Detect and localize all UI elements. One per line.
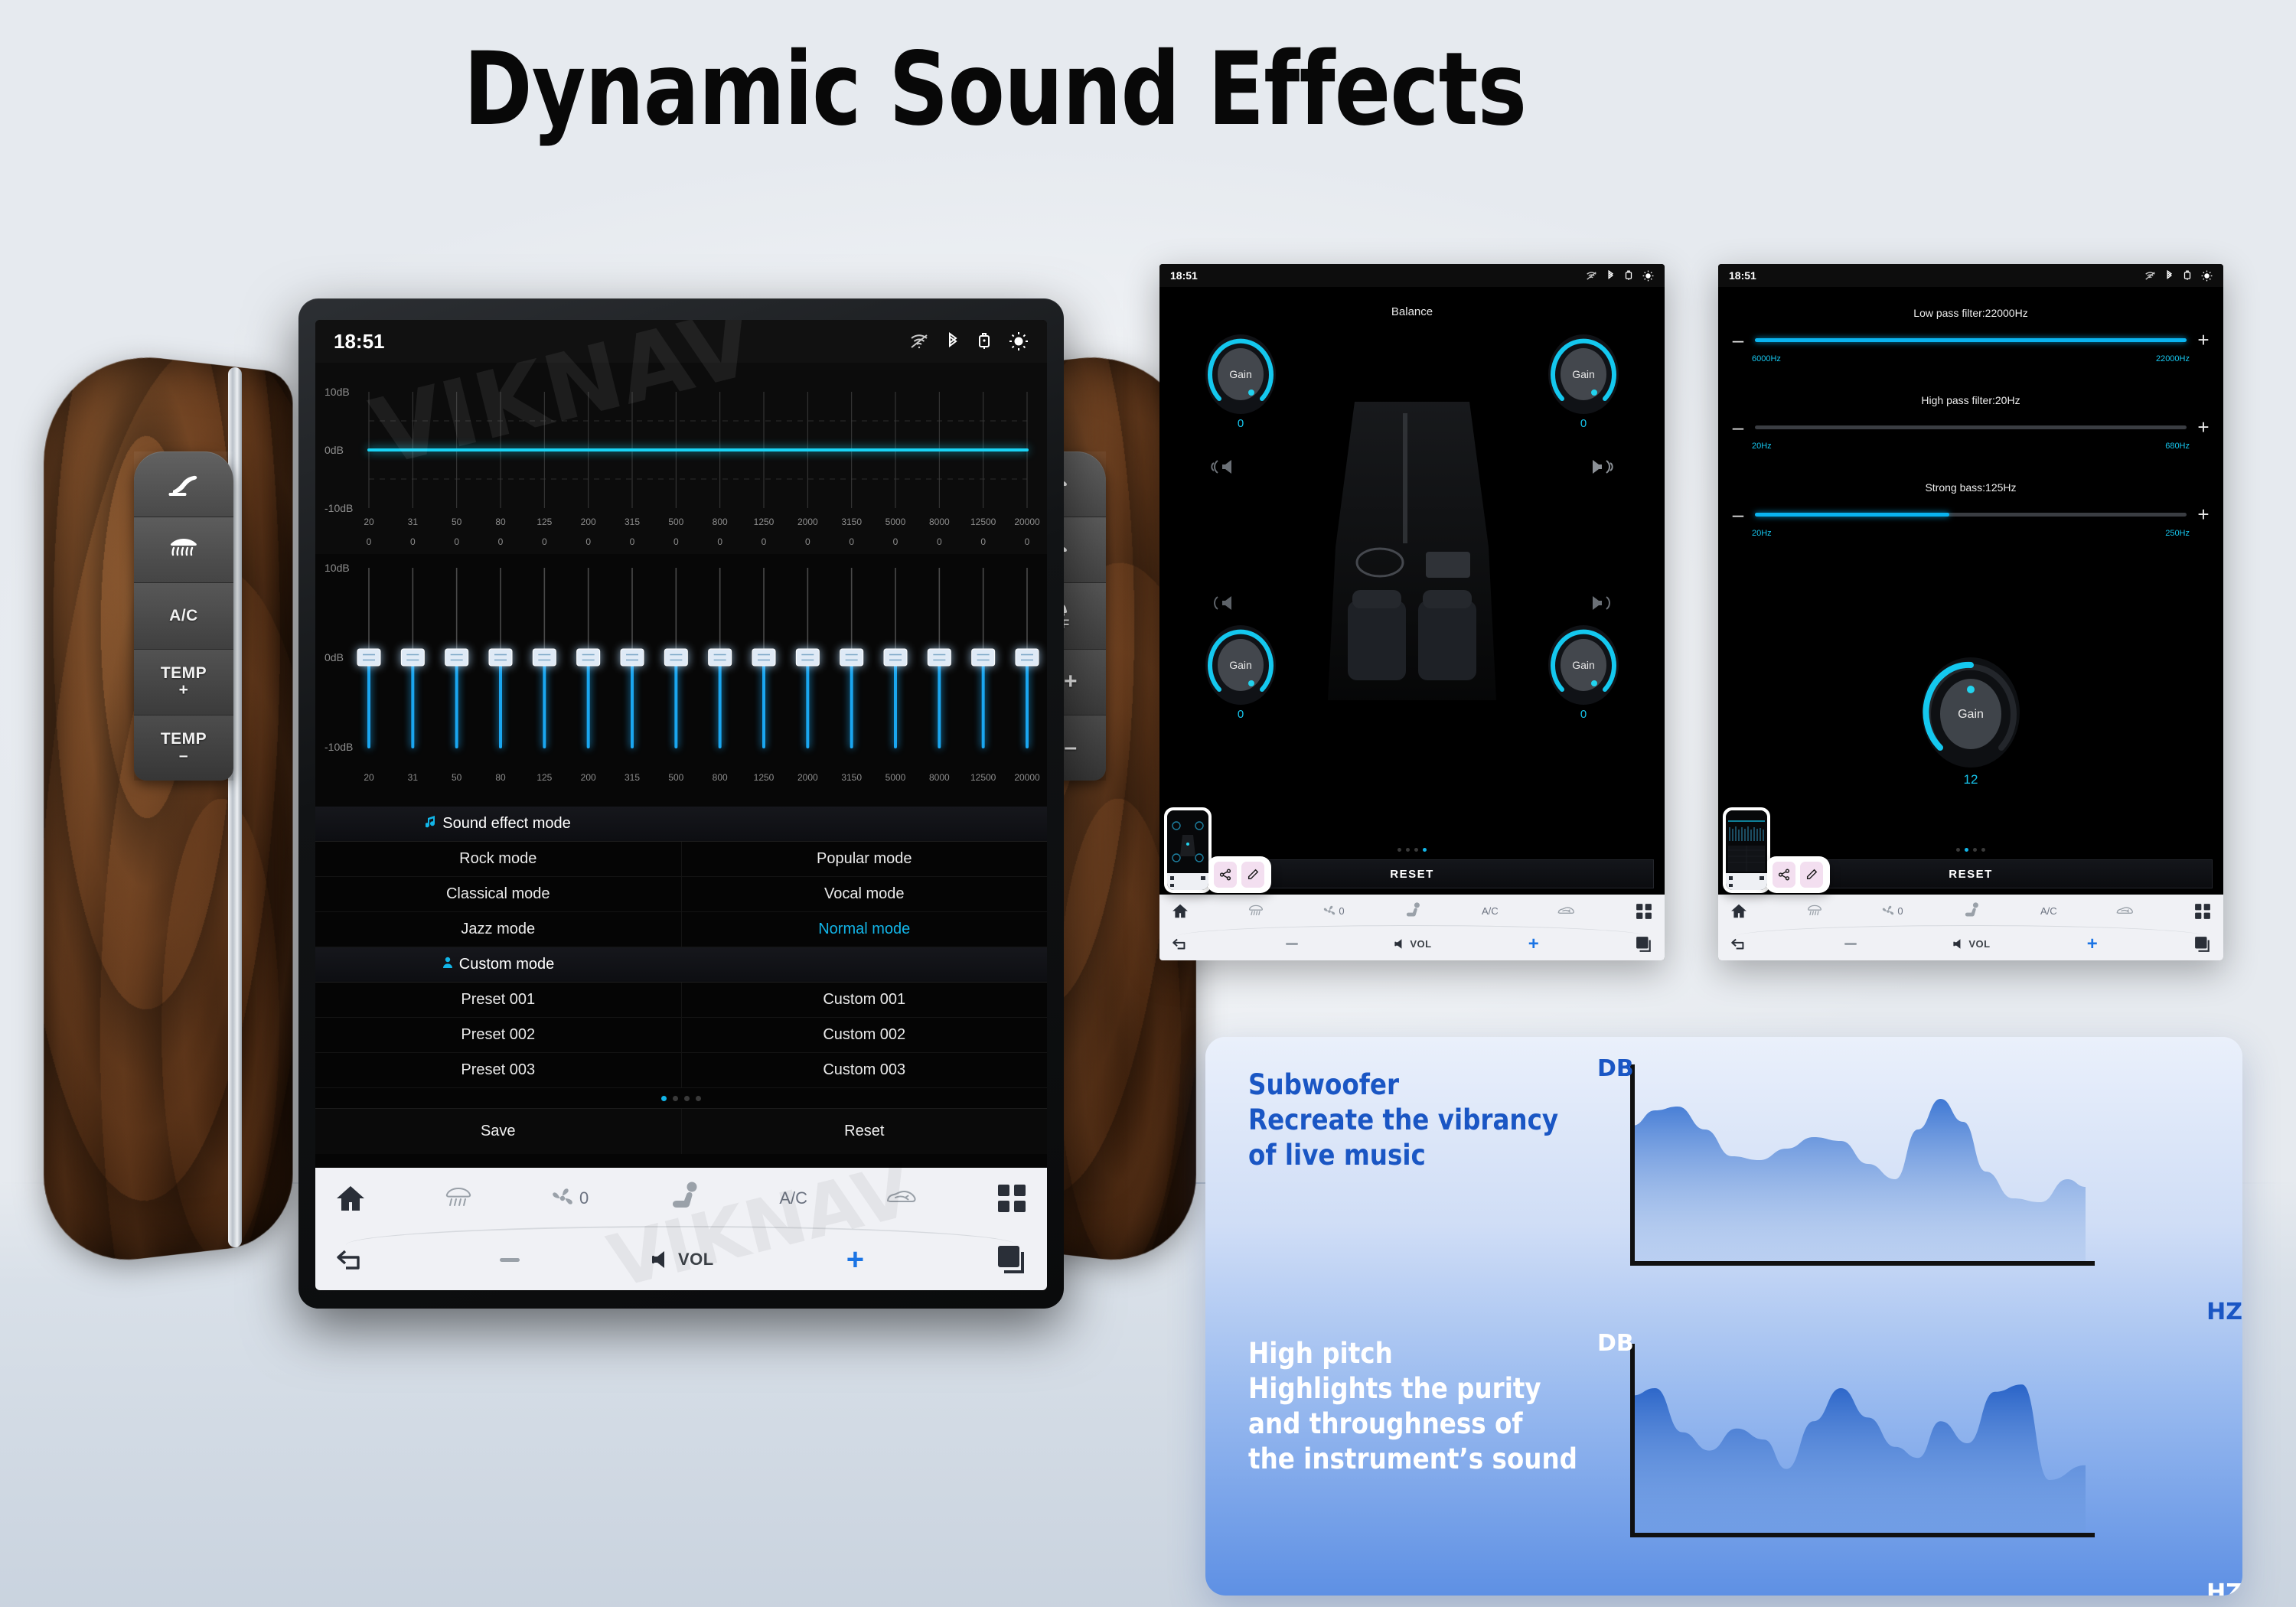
table-row[interactable]: Classical mode Vocal mode <box>315 877 1047 912</box>
low-pass-filter-title: Low pass filter:22000Hz <box>1718 307 2223 319</box>
recents-icon[interactable] <box>996 1244 1027 1275</box>
screenshot-thumbnail[interactable] <box>1164 807 1212 893</box>
nav-row-top: 0 A/C <box>1718 895 2223 927</box>
info-card: Subwoofer Recreate the vibrancy of live … <box>1205 1037 2242 1596</box>
filter-screen: 18:51 Low pass filter:22000Hz – + 6000Hz… <box>1718 264 2223 960</box>
screenshot-thumbnail-image <box>1167 810 1208 890</box>
screenshot-thumbnail[interactable] <box>1723 807 1770 893</box>
svg-text:500: 500 <box>668 517 683 527</box>
fan-speed-value: 0 <box>579 1188 589 1208</box>
mode-popular[interactable]: Popular mode <box>682 842 1048 876</box>
home-icon[interactable] <box>1172 903 1189 919</box>
volume-label: VOL <box>1968 938 1990 950</box>
gain-knob-front-left[interactable]: Gain 0 <box>1199 333 1282 430</box>
gain-knob-front-right[interactable]: Gain 0 <box>1542 333 1625 430</box>
volume-icon <box>1953 937 1968 950</box>
table-row[interactable]: Preset 003 Custom 003 <box>315 1053 1047 1088</box>
highpitch-chart: DB HZ <box>1619 1316 2242 1596</box>
slider-fill <box>1755 338 2187 342</box>
share-icon[interactable] <box>1773 862 1795 888</box>
speaker-rear-right-icon <box>1591 593 1617 617</box>
speaker-left-icon <box>1207 457 1233 481</box>
fan-speed-value: 0 <box>1339 905 1344 917</box>
highpitch-line-2: Highlights the purity <box>1248 1371 1574 1407</box>
svg-text:2000: 2000 <box>797 772 818 783</box>
high-pass-decrease-button[interactable]: – <box>1730 417 1746 437</box>
sound-effect-mode-header: Sound effect mode <box>315 807 1047 842</box>
home-icon[interactable] <box>1730 903 1747 919</box>
svg-text:20: 20 <box>364 772 374 783</box>
usb-icon <box>977 332 992 350</box>
ac-label[interactable]: A/C <box>2040 905 2057 917</box>
car-dashboard-unit: A/C TEMP + TEMP – OFF <box>46 298 1194 1324</box>
music-note-icon <box>426 815 436 833</box>
temp-up-button[interactable]: TEMP + <box>134 650 233 715</box>
subwoofer-waveform-svg <box>1619 1060 2108 1289</box>
seat-icon[interactable] <box>666 1182 703 1215</box>
status-bar-icons <box>909 331 1029 351</box>
page-dot[interactable] <box>1423 848 1427 852</box>
strong-bass-increase-button[interactable]: + <box>2196 504 2211 524</box>
brightness-icon <box>2201 270 2213 282</box>
apps-grid-icon[interactable] <box>1636 903 1652 920</box>
bottom-nav-bar: 0 A/C VOL + <box>1718 895 2223 960</box>
low-pass-increase-button[interactable]: + <box>2196 330 2211 350</box>
high-pass-increase-button[interactable]: + <box>2196 417 2211 437</box>
page-dot[interactable] <box>1956 848 1960 852</box>
home-icon[interactable] <box>335 1184 366 1213</box>
svg-text:0: 0 <box>762 536 767 547</box>
strong-bass-slider[interactable] <box>1755 513 2187 517</box>
custom-003[interactable]: Custom 003 <box>682 1053 1048 1087</box>
table-row[interactable]: Jazz mode Normal mode <box>315 912 1047 947</box>
rear-defrost-button[interactable] <box>134 517 233 583</box>
main-screen: 18:51 10dB0d <box>315 320 1047 1290</box>
subwoofer-chart: DB HZ <box>1619 1037 2242 1316</box>
svg-text:0: 0 <box>673 536 679 547</box>
volume-up-button[interactable]: + <box>846 1244 864 1275</box>
strong-bass-range-labels: 20Hz 250Hz <box>1718 529 2223 538</box>
balance-title: Balance <box>1159 305 1665 318</box>
defrost-icon[interactable] <box>443 1185 474 1211</box>
svg-text:31: 31 <box>408 772 419 783</box>
svg-text:0: 0 <box>585 536 591 547</box>
svg-text:-10dB: -10dB <box>325 741 353 753</box>
page-dot[interactable] <box>1414 848 1418 852</box>
strong-bass-title: Strong bass:125Hz <box>1718 481 2223 494</box>
high-pass-filter-title: High pass filter:20Hz <box>1718 394 2223 406</box>
volume-down-button[interactable] <box>1844 943 1857 945</box>
info-block-subwoofer: Subwoofer Recreate the vibrancy of live … <box>1205 1037 2242 1316</box>
recirculate-icon[interactable] <box>1557 905 1577 918</box>
low-pass-filter-group: Low pass filter:22000Hz – + 6000Hz 22000… <box>1718 307 2223 363</box>
brightness-icon <box>1642 270 1654 282</box>
eq-slider-bank[interactable]: 10dB0dB-10dB2031508012520031550080012502… <box>315 554 1047 807</box>
thumbnail-content <box>1167 810 1208 890</box>
status-bar-clock: 18:51 <box>1729 269 1756 282</box>
recirculate-icon[interactable] <box>885 1188 920 1209</box>
custom-mode-header-right <box>681 947 1047 982</box>
high-pass-filter-group: High pass filter:20Hz – + 20Hz 680Hz <box>1718 394 2223 451</box>
eq-curve-svg: 10dB0dB-10dB2003105008001250200031505000… <box>315 370 1047 554</box>
svg-text:125: 125 <box>536 772 552 783</box>
fan-down-sign: – <box>1064 735 1077 761</box>
knob-value: 0 <box>1199 708 1282 721</box>
sound-effect-mode-title: Sound effect mode <box>315 807 681 841</box>
highpitch-x-axis-label: HZ <box>2206 1579 2242 1596</box>
bottom-nav-bar: 0 A/C <box>315 1168 1047 1290</box>
svg-text:0: 0 <box>498 536 504 547</box>
svg-text:20000: 20000 <box>1014 772 1040 783</box>
page-indicator-dots <box>315 1088 1047 1108</box>
svg-text:800: 800 <box>713 517 728 527</box>
seat-icon[interactable] <box>1962 902 1981 921</box>
table-row[interactable]: Preset 001 Custom 001 <box>315 983 1047 1018</box>
gain-knob-rear-left[interactable]: Gain 0 <box>1199 624 1282 721</box>
preset-002[interactable]: Preset 002 <box>315 1018 682 1052</box>
svg-text:0: 0 <box>717 536 722 547</box>
svg-text:10dB: 10dB <box>325 386 350 398</box>
table-row[interactable]: Rock mode Popular mode <box>315 842 1047 877</box>
page-dot[interactable] <box>673 1096 678 1101</box>
highpitch-waveform-svg <box>1619 1339 2108 1561</box>
svg-text:1250: 1250 <box>754 772 775 783</box>
sound-effect-mode-header-right <box>681 807 1047 841</box>
custom-001[interactable]: Custom 001 <box>682 983 1048 1017</box>
svg-text:0dB: 0dB <box>325 651 344 663</box>
volume-down-button[interactable] <box>500 1258 520 1262</box>
eq-response-curve: 10dB0dB-10dB2003105008001250200031505000… <box>315 363 1047 554</box>
mode-jazz[interactable]: Jazz mode <box>315 912 682 947</box>
volume-icon <box>1394 937 1410 950</box>
fan-icon[interactable] <box>1881 905 1895 918</box>
strong-bass-row: – + <box>1718 504 2223 524</box>
svg-text:315: 315 <box>625 772 640 783</box>
svg-text:800: 800 <box>713 772 728 783</box>
brightness-icon <box>1009 331 1029 351</box>
info-block-highpitch: High pitch Highlights the purity and thr… <box>1205 1316 2242 1596</box>
svg-text:5000: 5000 <box>885 517 906 527</box>
page-dot[interactable] <box>1965 848 1968 852</box>
svg-text:0: 0 <box>410 536 416 547</box>
sound-effect-footer: Save Reset <box>315 1108 1047 1154</box>
status-bar: 18:51 <box>1718 264 2223 287</box>
filter-body: Low pass filter:22000Hz – + 6000Hz 22000… <box>1718 287 2223 895</box>
svg-text:0: 0 <box>893 536 899 547</box>
svg-text:20000: 20000 <box>1014 517 1040 527</box>
temp-down-sign: – <box>179 748 188 764</box>
custom-mode-header: Custom mode <box>315 947 1047 983</box>
knob-value: 12 <box>1919 772 2023 787</box>
custom-mode-title: Custom mode <box>315 947 681 982</box>
subwoofer-line-2: Recreate the vibrancy <box>1248 1103 1574 1138</box>
svg-text:0: 0 <box>1025 536 1030 547</box>
high-pass-min: 20Hz <box>1752 442 1772 451</box>
high-pass-max: 680Hz <box>2165 442 2190 451</box>
edit-pencil-icon[interactable] <box>1800 862 1823 888</box>
knob-value: 0 <box>1542 417 1625 430</box>
thumbnail-content <box>1726 810 1767 890</box>
balance-screen: 18:51 Balance <box>1159 264 1665 960</box>
page-dot[interactable] <box>684 1096 690 1101</box>
highpitch-line-1: High pitch <box>1248 1336 1574 1371</box>
ac-label[interactable]: A/C <box>1482 905 1499 917</box>
wifi-off-icon <box>909 333 929 350</box>
svg-text:0: 0 <box>980 536 986 547</box>
svg-text:0: 0 <box>849 536 854 547</box>
preset-001[interactable]: Preset 001 <box>315 983 682 1017</box>
mode-vocal[interactable]: Vocal mode <box>682 877 1048 911</box>
bass-gain-knob[interactable]: Gain 12 <box>1919 654 2023 787</box>
svg-text:50: 50 <box>452 517 462 527</box>
highpitch-line-3: and throughness of <box>1248 1407 1574 1442</box>
fan-speed-value: 0 <box>1897 905 1903 917</box>
back-icon[interactable] <box>335 1247 367 1273</box>
svg-text:-10dB: -10dB <box>325 502 353 514</box>
fan-icon[interactable] <box>1322 905 1336 918</box>
svg-text:125: 125 <box>536 517 552 527</box>
svg-text:10dB: 10dB <box>325 562 350 574</box>
high-pass-filter-row: – + <box>1718 417 2223 437</box>
knob-label: Gain <box>1547 368 1620 380</box>
sound-effect-mode-panel: Sound effect mode Rock mode Popular mode… <box>315 807 1047 1168</box>
sound-effect-mode-title-text: Sound effect mode <box>442 815 571 833</box>
svg-text:200: 200 <box>581 772 596 783</box>
svg-text:2000: 2000 <box>797 517 818 527</box>
fan-icon[interactable] <box>550 1186 575 1211</box>
page-dot[interactable] <box>1406 848 1410 852</box>
svg-text:0: 0 <box>542 536 547 547</box>
svg-text:1250: 1250 <box>754 517 775 527</box>
temp-up-sign: + <box>179 682 189 699</box>
strong-bass-min: 20Hz <box>1752 529 1772 538</box>
preset-003[interactable]: Preset 003 <box>315 1053 682 1087</box>
car-interior-graphic <box>1159 371 1665 800</box>
bluetooth-icon <box>1606 270 1615 281</box>
temp-down-label: TEMP <box>161 731 207 748</box>
person-icon <box>442 956 453 973</box>
gain-knob-rear-right[interactable]: Gain 0 <box>1542 624 1625 721</box>
svg-text:8000: 8000 <box>929 772 950 783</box>
mode-rock[interactable]: Rock mode <box>315 842 682 876</box>
mode-classical[interactable]: Classical mode <box>315 877 682 911</box>
svg-text:315: 315 <box>625 517 640 527</box>
share-icon[interactable] <box>1214 862 1237 888</box>
temp-up-label: TEMP <box>161 665 207 682</box>
status-bar-icons <box>2144 270 2213 282</box>
temp-down-button[interactable]: TEMP – <box>134 715 233 781</box>
strong-bass-max: 250Hz <box>2165 529 2190 538</box>
knob-label: Gain <box>1204 368 1277 380</box>
bluetooth-icon <box>2165 270 2174 281</box>
volume-label: VOL <box>678 1250 714 1270</box>
low-pass-filter-slider[interactable] <box>1755 338 2187 342</box>
low-pass-decrease-button[interactable]: – <box>1730 330 1746 350</box>
nav-row-top: 0 A/C <box>315 1168 1047 1229</box>
status-bar-icons <box>1586 270 1654 282</box>
knob-label: Gain <box>1204 659 1277 671</box>
seat-icon[interactable] <box>1403 902 1423 921</box>
svg-text:0dB: 0dB <box>325 444 344 456</box>
svg-text:8000: 8000 <box>929 517 950 527</box>
mode-normal[interactable]: Normal mode <box>682 912 1048 947</box>
table-row[interactable]: Preset 002 Custom 002 <box>315 1018 1047 1053</box>
svg-text:0: 0 <box>805 536 810 547</box>
volume-label: VOL <box>1410 938 1431 950</box>
highpitch-y-axis-label: DB <box>1597 1330 1634 1357</box>
volume-icon <box>652 1248 678 1271</box>
knob-label: Gain <box>1547 659 1620 671</box>
low-pass-range-labels: 6000Hz 22000Hz <box>1718 354 2223 363</box>
wifi-off-icon <box>1586 271 1597 281</box>
screenshot-popup <box>1723 807 1830 893</box>
reset-button[interactable]: Reset <box>682 1109 1048 1154</box>
svg-text:3150: 3150 <box>841 517 862 527</box>
apps-grid-icon[interactable] <box>2194 903 2211 920</box>
strong-bass-decrease-button[interactable]: – <box>1730 504 1746 524</box>
svg-text:5000: 5000 <box>885 772 906 783</box>
custom-002[interactable]: Custom 002 <box>682 1018 1048 1052</box>
bluetooth-icon <box>946 332 960 350</box>
status-bar: 18:51 <box>315 320 1047 363</box>
seat-heater-button[interactable] <box>134 451 233 517</box>
page-dot[interactable] <box>696 1096 701 1101</box>
wifi-off-icon <box>2144 271 2156 281</box>
usb-icon <box>1624 270 1633 281</box>
low-pass-min: 6000Hz <box>1752 354 1781 363</box>
nav-decorative-curve <box>1176 925 1648 939</box>
usb-icon <box>2183 270 2192 281</box>
edit-pencil-icon[interactable] <box>1241 862 1264 888</box>
fan-up-sign: + <box>1064 669 1078 695</box>
slider-fill <box>1755 513 1949 517</box>
recirculate-icon[interactable] <box>2115 905 2135 918</box>
save-button[interactable]: Save <box>315 1109 682 1154</box>
custom-mode-title-text: Custom mode <box>459 956 555 973</box>
head-unit-tablet: 18:51 10dB0d <box>298 298 1064 1309</box>
ac-button[interactable]: A/C <box>134 583 233 649</box>
ac-button-label: A/C <box>169 607 198 625</box>
svg-text:20: 20 <box>364 517 374 527</box>
subwoofer-y-axis-label: DB <box>1597 1055 1634 1082</box>
speaker-right-icon <box>1591 457 1617 481</box>
svg-text:0: 0 <box>454 536 459 547</box>
svg-text:0: 0 <box>367 536 372 547</box>
nav-decorative-curve <box>1735 925 2206 939</box>
svg-text:200: 200 <box>581 517 596 527</box>
svg-text:500: 500 <box>668 772 683 783</box>
eq-sliders-svg[interactable]: 10dB0dB-10dB2031508012520031550080012502… <box>315 554 1047 807</box>
hard-button-pad-left: A/C TEMP + TEMP – <box>134 451 233 781</box>
svg-text:0: 0 <box>630 536 635 547</box>
page-dot[interactable] <box>661 1096 667 1101</box>
low-pass-filter-row: – + <box>1718 330 2223 350</box>
svg-text:80: 80 <box>495 517 506 527</box>
svg-text:3150: 3150 <box>841 772 862 783</box>
high-pass-filter-slider[interactable] <box>1755 425 2187 429</box>
bottom-nav-bar: 0 A/C VOL + <box>1159 895 1665 960</box>
screenshot-thumbnail-image <box>1726 810 1767 890</box>
page-dot[interactable] <box>1397 848 1401 852</box>
svg-text:31: 31 <box>408 517 419 527</box>
page-dot[interactable] <box>1981 848 1985 852</box>
page-dot[interactable] <box>1973 848 1977 852</box>
svg-text:50: 50 <box>452 772 462 783</box>
apps-grid-icon[interactable] <box>996 1183 1027 1214</box>
page-title: Dynamic Sound Effects <box>179 31 1811 148</box>
knob-label: Gain <box>1919 708 2023 722</box>
low-pass-max: 22000Hz <box>2156 354 2190 363</box>
subwoofer-line-1: Subwoofer <box>1248 1068 1574 1103</box>
ac-label[interactable]: A/C <box>779 1188 807 1208</box>
subwoofer-line-3: of live music <box>1248 1138 1574 1173</box>
svg-text:80: 80 <box>495 772 506 783</box>
svg-text:12500: 12500 <box>970 517 996 527</box>
highpitch-text: High pitch Highlights the purity and thr… <box>1205 1316 1619 1596</box>
svg-text:0: 0 <box>937 536 942 547</box>
strong-bass-group: Strong bass:125Hz – + 20Hz 250Hz <box>1718 481 2223 538</box>
svg-text:12500: 12500 <box>970 772 996 783</box>
defrost-icon[interactable] <box>1247 904 1264 918</box>
knob-value: 0 <box>1199 417 1282 430</box>
status-bar-clock: 18:51 <box>1170 269 1198 282</box>
knob-value: 0 <box>1542 708 1625 721</box>
speaker-rear-left-icon <box>1207 593 1233 617</box>
volume-down-button[interactable] <box>1286 943 1298 945</box>
balance-body: Balance <box>1159 287 1665 895</box>
screenshot-actions <box>1207 856 1271 893</box>
subwoofer-text: Subwoofer Recreate the vibrancy of live … <box>1205 1037 1619 1316</box>
status-bar-clock: 18:51 <box>334 330 385 354</box>
status-bar: 18:51 <box>1159 264 1665 287</box>
nav-row-top: 0 A/C <box>1159 895 1665 927</box>
highpitch-line-4: the instrument’s sound <box>1248 1442 1574 1477</box>
defrost-icon[interactable] <box>1806 904 1823 918</box>
high-pass-range-labels: 20Hz 680Hz <box>1718 442 2223 451</box>
screenshot-popup <box>1164 807 1271 893</box>
screenshot-actions <box>1766 856 1830 893</box>
